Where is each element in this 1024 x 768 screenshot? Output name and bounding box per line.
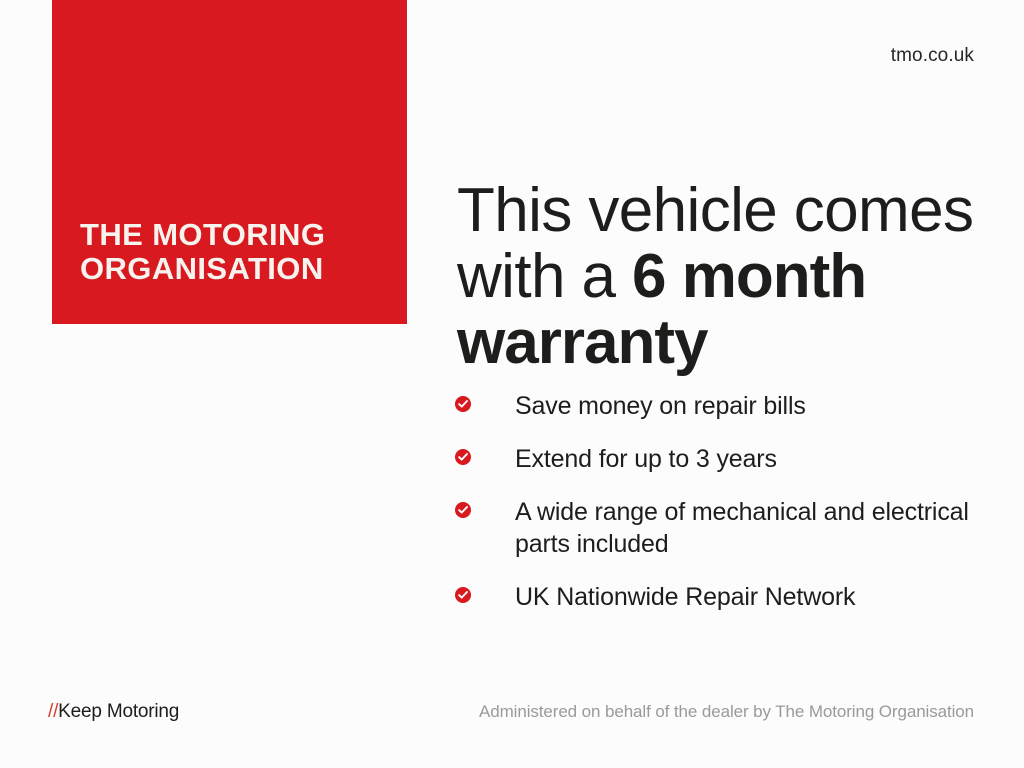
benefits-list: Save money on repair bills Extend for up… xyxy=(455,390,985,613)
check-circle-icon xyxy=(455,587,471,603)
brand-logo-line-1: THE MOTORING xyxy=(80,218,390,252)
check-circle-icon xyxy=(455,449,471,465)
page-title: This vehicle comes with a 6 month warran… xyxy=(457,178,997,376)
benefit-label: Save money on repair bills xyxy=(515,390,985,422)
check-circle-icon xyxy=(455,396,471,412)
list-item: A wide range of mechanical and electrica… xyxy=(455,496,985,560)
benefit-label: Extend for up to 3 years xyxy=(515,443,985,475)
slash-mark-icon: // xyxy=(48,701,58,722)
warranty-banner: tmo.co.uk THE MOTORING ORGANISATION This… xyxy=(0,0,1024,768)
brand-logo-text: THE MOTORING ORGANISATION xyxy=(80,218,390,286)
list-item: Save money on repair bills xyxy=(455,390,985,422)
list-item: UK Nationwide Repair Network xyxy=(455,581,985,613)
brand-logo-line-2: ORGANISATION xyxy=(80,252,390,286)
site-url: tmo.co.uk xyxy=(891,45,974,67)
footer-tagline: //Keep Motoring xyxy=(48,701,179,723)
footer-disclaimer: Administered on behalf of the dealer by … xyxy=(479,702,974,722)
footer-tagline-label: Keep Motoring xyxy=(58,701,179,722)
check-circle-icon xyxy=(455,502,471,518)
brand-logo-block: THE MOTORING ORGANISATION xyxy=(52,0,407,324)
benefit-label: UK Nationwide Repair Network xyxy=(515,581,985,613)
benefit-label: A wide range of mechanical and electrica… xyxy=(515,496,985,560)
list-item: Extend for up to 3 years xyxy=(455,443,985,475)
